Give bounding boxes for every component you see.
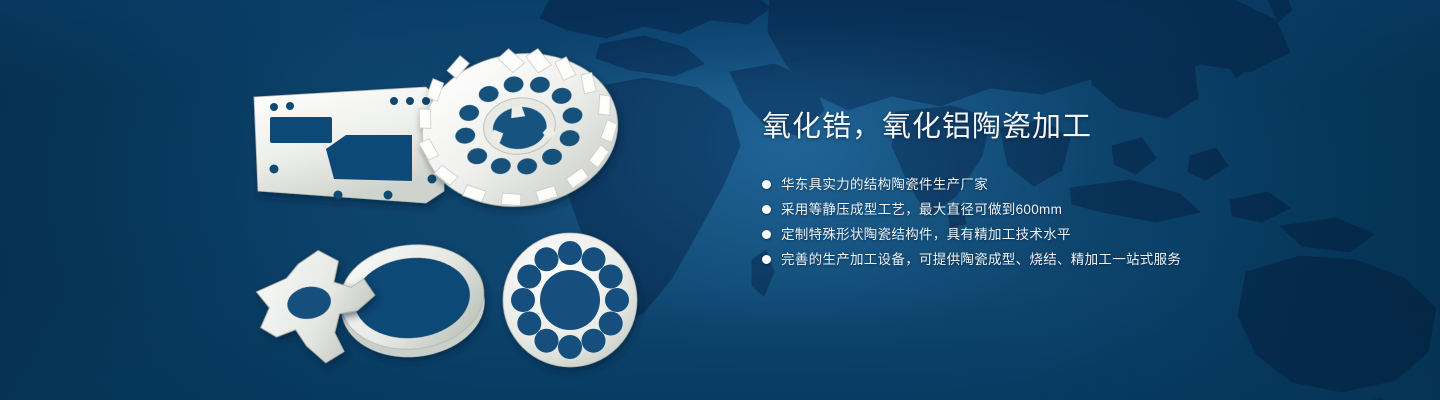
page-title: 氧化锆，氧化铝陶瓷加工 (762, 108, 1382, 146)
ceramic-products-image (230, 45, 710, 385)
dot-bullet-icon (762, 255, 771, 264)
list-item-label: 定制特殊形状陶瓷结构件，具有精加工技术水平 (781, 222, 1071, 247)
dot-bullet-icon (762, 205, 771, 214)
ceramic-plate-part (254, 87, 444, 203)
hero-banner: 氧化锆，氧化铝陶瓷加工 华东具实力的结构陶瓷件生产厂家 采用等静压成型工艺，最大… (0, 0, 1440, 400)
banner-text-column: 氧化锆，氧化铝陶瓷加工 华东具实力的结构陶瓷件生产厂家 采用等静压成型工艺，最大… (762, 108, 1382, 272)
feature-list: 华东具实力的结构陶瓷件生产厂家 采用等静压成型工艺，最大直径可做到600mm 定… (762, 172, 1382, 272)
list-item: 华东具实力的结构陶瓷件生产厂家 (762, 172, 1382, 197)
list-item-label: 完善的生产加工设备，可提供陶瓷成型、烧结、精加工一站式服务 (781, 247, 1181, 272)
list-item-label: 华东具实力的结构陶瓷件生产厂家 (781, 172, 988, 197)
list-item-label: 采用等静压成型工艺，最大直径可做到600mm (781, 197, 1062, 222)
dot-bullet-icon (762, 180, 771, 189)
dot-bullet-icon (762, 230, 771, 239)
list-item: 定制特殊形状陶瓷结构件，具有精加工技术水平 (762, 222, 1382, 247)
list-item: 采用等静压成型工艺，最大直径可做到600mm (762, 197, 1382, 222)
ceramic-holed-disc-part (503, 233, 637, 367)
list-item: 完善的生产加工设备，可提供陶瓷成型、烧结、精加工一站式服务 (762, 247, 1382, 272)
